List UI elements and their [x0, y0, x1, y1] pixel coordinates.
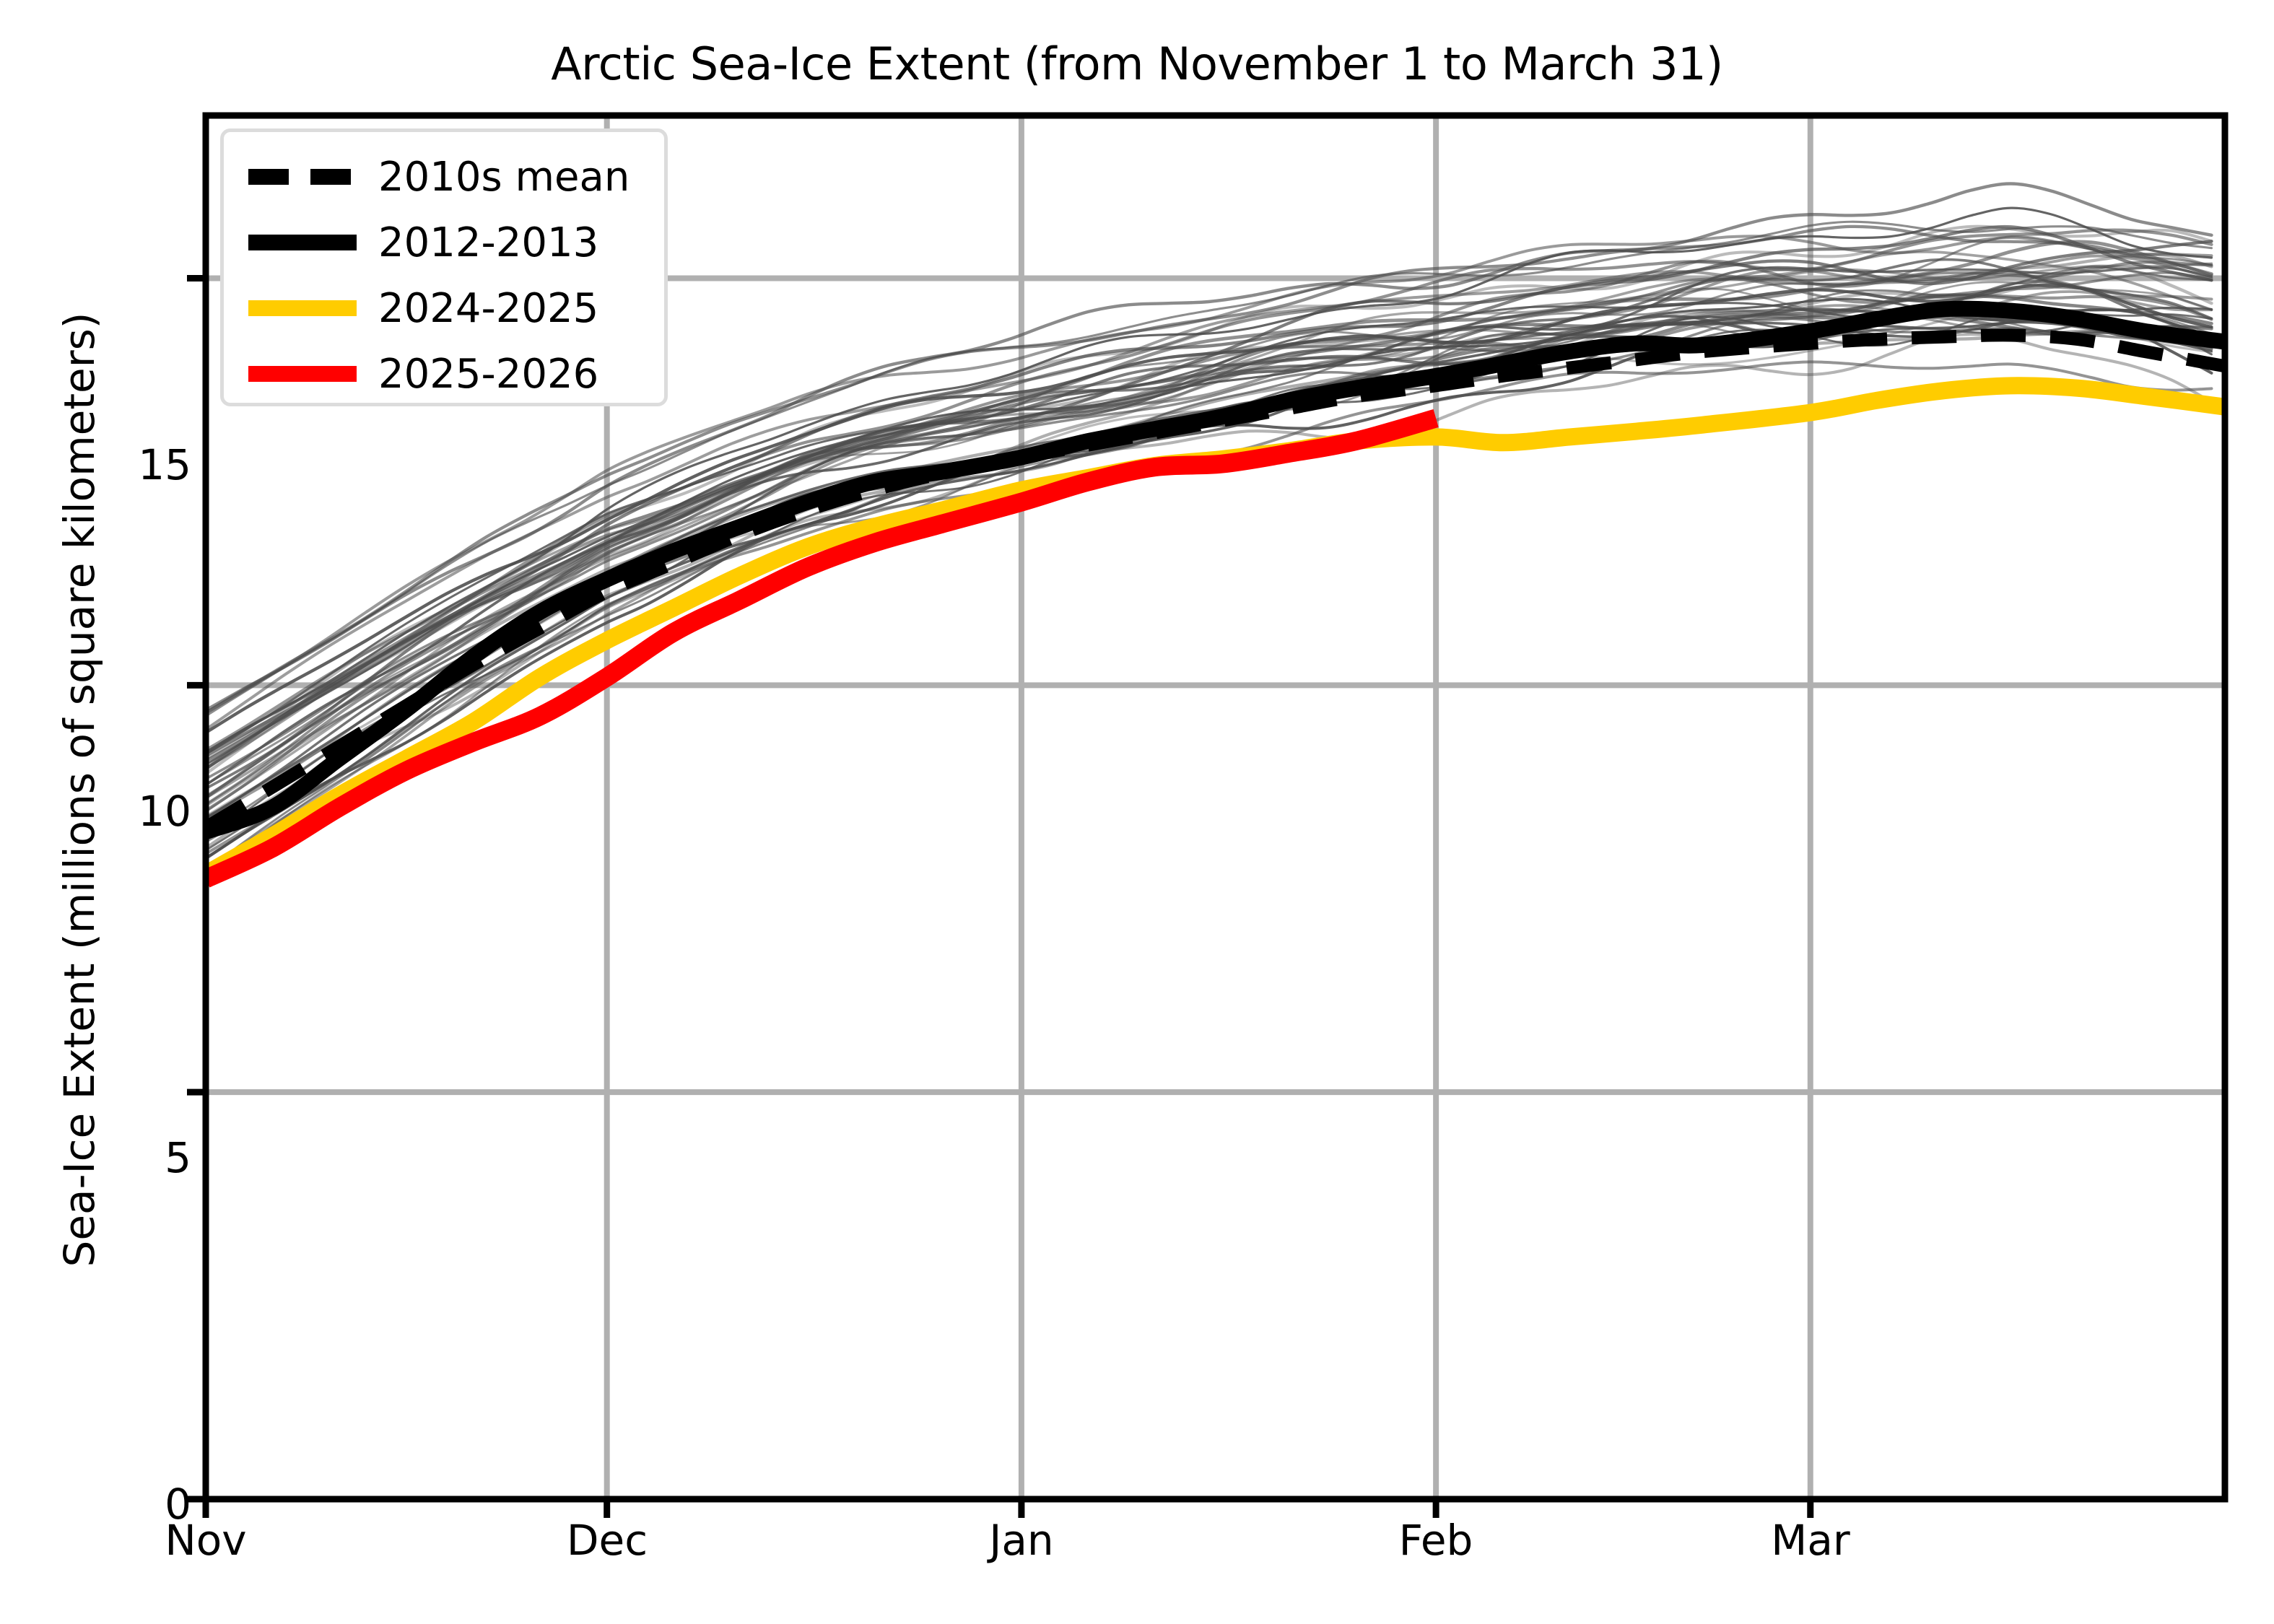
legend-label: 2024-2025 — [378, 285, 598, 332]
ytick-label: 15 — [76, 440, 191, 489]
legend-item-mean: 2010s mean — [224, 142, 671, 211]
legend-label: 2010s mean — [378, 154, 630, 201]
chart-figure: Arctic Sea-Ice Extent (from November 1 t… — [0, 0, 2274, 1624]
legend: 2010s mean 2012-2013 2024-2025 2025-2026 — [220, 128, 668, 406]
legend-swatch-dashed-line-icon — [248, 169, 357, 185]
ytick-label: 5 — [76, 1133, 191, 1182]
xtick-label: Mar — [1717, 1516, 1904, 1565]
legend-item-2012-2013: 2012-2013 — [224, 208, 671, 277]
legend-item-2025-2026: 2025-2026 — [224, 339, 671, 409]
ytick-label: 10 — [76, 787, 191, 836]
xtick-label: Feb — [1342, 1516, 1530, 1565]
legend-item-2024-2025: 2024-2025 — [224, 274, 671, 343]
xtick-label: Jan — [928, 1516, 1115, 1565]
legend-swatch-red-line-icon — [248, 366, 357, 382]
legend-swatch-solid-line-icon — [248, 235, 357, 250]
xtick-label: Nov — [112, 1516, 300, 1565]
xtick-label: Dec — [513, 1516, 701, 1565]
legend-swatch-gold-line-icon — [248, 300, 357, 316]
legend-label: 2025-2026 — [378, 351, 598, 398]
legend-label: 2012-2013 — [378, 219, 598, 266]
